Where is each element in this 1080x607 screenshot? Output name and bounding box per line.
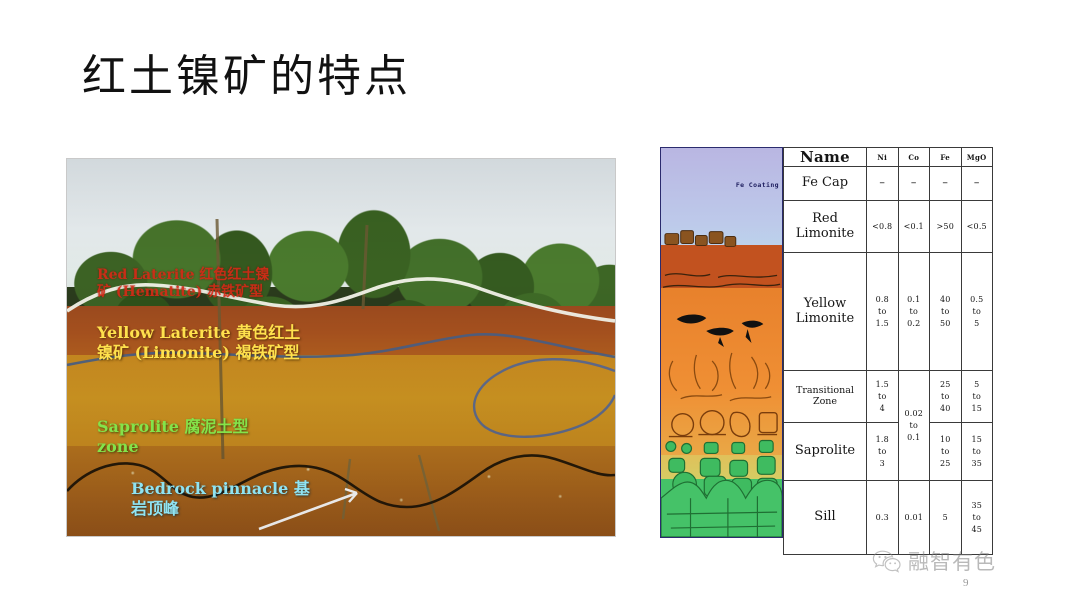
column-header-ni: Ni bbox=[867, 148, 899, 167]
page-title: 红土镍矿的特点 bbox=[82, 50, 411, 104]
row-name-transitional-zone: Transitional Zone bbox=[784, 371, 867, 423]
cell-red-limonite-ni: <0.8 bbox=[867, 201, 899, 253]
photo-label-red-laterite: Red Laterite 红色红土镍 矿 (Hematite) 赤铁矿型 bbox=[97, 267, 269, 301]
soil-profile-column: Fe Coating bbox=[660, 147, 783, 538]
cell-saprolite-mgo: 15 to 35 bbox=[961, 423, 993, 481]
cell-sill-co: 0.01 bbox=[898, 481, 930, 555]
cell-red-limonite-mgo: <0.5 bbox=[961, 201, 993, 253]
laterite-outcrop-photo: Red Laterite 红色红土镍 矿 (Hematite) 赤铁矿型 Yel… bbox=[66, 158, 616, 537]
cell-fe-cap-mgo: – bbox=[961, 167, 993, 201]
watermark-text: 融智有色 bbox=[908, 546, 996, 576]
table-row: Sill 0.3 0.01 5 35 to 45 bbox=[784, 481, 993, 555]
cell-sill-fe: 5 bbox=[930, 481, 962, 555]
table-row: Fe Cap – – – – bbox=[784, 167, 993, 201]
laterite-assay-table: Name Ni Co Fe MgO Fe Cap – – – – Red Lim… bbox=[783, 147, 993, 555]
row-name-saprolite: Saprolite bbox=[784, 423, 867, 481]
photo-label-yellow-laterite: Yellow Laterite 黄色红土 镍矿 (Limonite) 褐铁矿型 bbox=[97, 323, 300, 362]
cell-yellow-limonite-fe: 40 to 50 bbox=[930, 253, 962, 371]
table-row: Red Limonite <0.8 <0.1 >50 <0.5 bbox=[784, 201, 993, 253]
row-name-sill: Sill bbox=[784, 481, 867, 555]
cell-red-limonite-fe: >50 bbox=[930, 201, 962, 253]
photo-label-saprolite-zone: Saprolite 腐泥土型 zone bbox=[97, 417, 249, 456]
page-number: 9 bbox=[963, 577, 969, 589]
row-name-red-limonite: Red Limonite bbox=[784, 201, 867, 253]
photo-label-bedrock-pinnacle: Bedrock pinnacle 基 岩顶峰 bbox=[131, 479, 310, 518]
cell-fe-cap-fe: – bbox=[930, 167, 962, 201]
column-header-name: Name bbox=[784, 148, 867, 167]
table-row: Transitional Zone 1.5 to 4 0.02 to 0.1 2… bbox=[784, 371, 993, 423]
table-row: Yellow Limonite 0.8 to 1.5 0.1 to 0.2 40… bbox=[784, 253, 993, 371]
cell-sill-mgo: 35 to 45 bbox=[961, 481, 993, 555]
row-name-yellow-limonite: Yellow Limonite bbox=[784, 253, 867, 371]
cell-transitional-mgo: 5 to 15 bbox=[961, 371, 993, 423]
cell-saprolite-fe: 10 to 25 bbox=[930, 423, 962, 481]
watermark: 融智有色 bbox=[872, 546, 996, 576]
cell-transitional-saprolite-co: 0.02 to 0.1 bbox=[898, 371, 930, 481]
cell-fe-cap-ni: – bbox=[867, 167, 899, 201]
table-row: Saprolite 1.8 to 3 10 to 25 15 to 35 bbox=[784, 423, 993, 481]
cell-yellow-limonite-co: 0.1 to 0.2 bbox=[898, 253, 930, 371]
column-header-fe: Fe bbox=[930, 148, 962, 167]
cell-sill-ni: 0.3 bbox=[867, 481, 899, 555]
row-name-fe-cap: Fe Cap bbox=[784, 167, 867, 201]
cell-red-limonite-co: <0.1 bbox=[898, 201, 930, 253]
cell-saprolite-ni: 1.8 to 3 bbox=[867, 423, 899, 481]
cell-transitional-ni: 1.5 to 4 bbox=[867, 371, 899, 423]
fe-coating-label: Fe Coating bbox=[736, 181, 779, 189]
laterite-profile-figure: Fe Coating Name Ni Co Fe MgO Fe Cap – – … bbox=[660, 147, 993, 538]
table-header-row: Name Ni Co Fe MgO bbox=[784, 148, 993, 167]
wechat-icon bbox=[872, 549, 902, 573]
cell-yellow-limonite-mgo: 0.5 to 5 bbox=[961, 253, 993, 371]
column-header-co: Co bbox=[898, 148, 930, 167]
cell-yellow-limonite-ni: 0.8 to 1.5 bbox=[867, 253, 899, 371]
column-header-mgo: MgO bbox=[961, 148, 993, 167]
cell-fe-cap-co: – bbox=[898, 167, 930, 201]
cell-transitional-fe: 25 to 40 bbox=[930, 371, 962, 423]
profile-sketch-marks bbox=[661, 148, 782, 537]
